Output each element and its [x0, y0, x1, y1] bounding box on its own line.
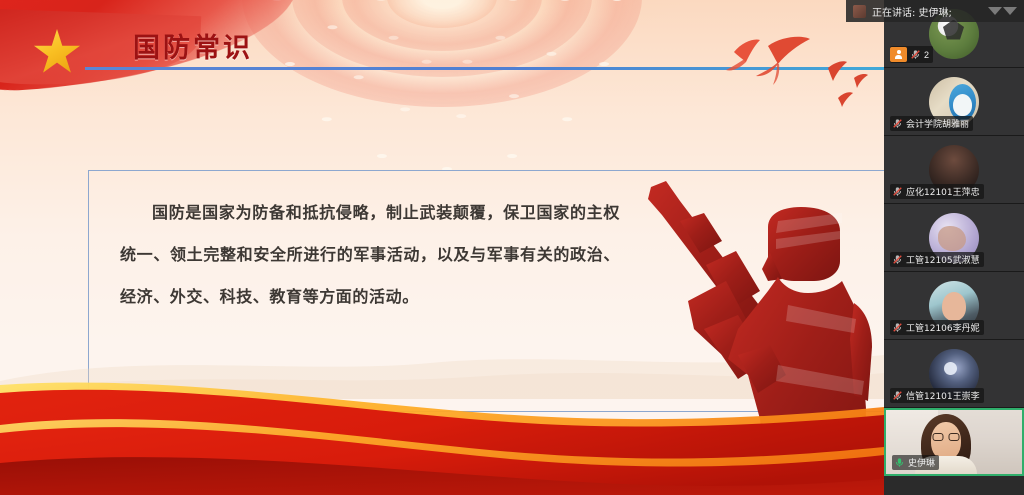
participant-tile-4[interactable]: 工管12106李丹妮: [884, 272, 1024, 340]
page-title: 国防常识: [133, 26, 253, 65]
mic-off-icon: [892, 118, 903, 129]
participant-name-tag: 史伊琳: [892, 455, 939, 470]
participant-name-tag: 2: [890, 46, 933, 63]
participant-rail[interactable]: 正在讲话: 史伊琳; 2会计学院胡雅丽应化12101王萍忠工管12105武淑慧工…: [884, 0, 1024, 495]
participant-name-tag: 工管12105武淑慧: [890, 252, 984, 267]
speaker-avatar: [853, 5, 866, 18]
participant-name-tag: 信管12101王崇李: [890, 388, 984, 403]
participant-name: 史伊琳: [908, 456, 935, 469]
shared-screen-slide: 国防常识 国防是国家为防备和抵抗侵略: [0, 0, 884, 495]
participant-name-tag: 应化12101王萍忠: [890, 184, 984, 199]
mic-off-icon: [910, 49, 921, 60]
mic-on-icon: [894, 457, 905, 468]
participant-name: 工管12105武淑慧: [906, 253, 980, 266]
mic-off-icon: [892, 186, 903, 197]
participant-name: 应化12101王萍忠: [906, 185, 980, 198]
participant-tile-1[interactable]: 会计学院胡雅丽: [884, 68, 1024, 136]
participant-name: 会计学院胡雅丽: [906, 117, 969, 130]
meeting-window: 国防常识 国防是国家为防备和抵抗侵略: [0, 0, 1024, 495]
participant-name: 工管12106李丹妮: [906, 321, 980, 334]
raise-hand-icon: [890, 47, 907, 62]
participant-name-tag: 会计学院胡雅丽: [890, 116, 973, 131]
active-speaker-banner: 正在讲话: 史伊琳;: [846, 0, 1024, 22]
mic-off-icon: [892, 322, 903, 333]
collapse-chevrons-icon[interactable]: [988, 7, 1017, 15]
slide-body-text: 国防是国家为防备和抵抗侵略，制止武装颠覆，保卫国家的主权统一、领土完整和安全所进…: [120, 192, 620, 318]
participant-name-tag: 工管12106李丹妮: [890, 320, 984, 335]
mic-off-icon: [892, 390, 903, 401]
participant-tile-6[interactable]: 史伊琳: [884, 408, 1024, 476]
flying-doves-icon: [716, 36, 884, 116]
red-ribbon-waves-decoration: [0, 367, 884, 495]
chrysanthemum-burst-decoration: [232, 0, 652, 112]
participant-name: 信管12101王崇李: [906, 389, 980, 402]
mic-off-icon: [892, 254, 903, 265]
active-speaker-label: 正在讲话: 史伊琳;: [872, 4, 952, 19]
participant-tile-5[interactable]: 信管12101王崇李: [884, 340, 1024, 408]
participant-tile-3[interactable]: 工管12105武淑慧: [884, 204, 1024, 272]
participant-tile-2[interactable]: 应化12101王萍忠: [884, 136, 1024, 204]
raised-hand-count: 2: [924, 50, 929, 60]
